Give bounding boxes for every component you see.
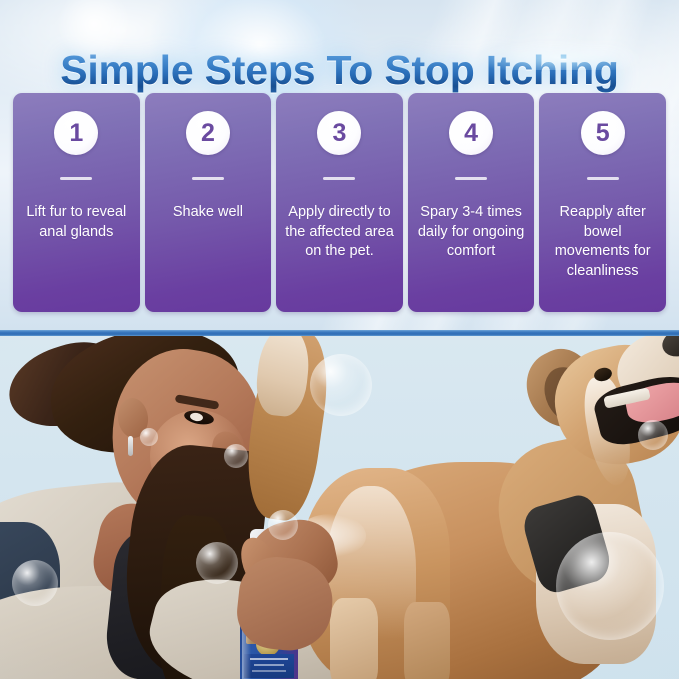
steps-card-row: 1 Lift fur to reveal anal glands 2 Shake… xyxy=(13,93,666,312)
step-divider-rule xyxy=(60,177,92,180)
bubble-icon xyxy=(556,532,664,640)
dog-hind-leg-right xyxy=(404,602,450,679)
bubble-icon xyxy=(12,560,58,606)
step-number-label: 3 xyxy=(333,121,347,146)
step-number-badge: 5 xyxy=(581,111,625,155)
bottle-label-line xyxy=(254,664,284,666)
bottle-label-line xyxy=(252,670,286,672)
step-divider-rule xyxy=(587,177,619,180)
step-number-badge: 4 xyxy=(449,111,493,155)
step-description: Lift fur to reveal anal glands xyxy=(13,203,140,242)
step-number-label: 2 xyxy=(201,121,215,146)
step-number-label: 4 xyxy=(464,121,478,146)
step-number-label: 1 xyxy=(69,121,83,146)
bubble-icon xyxy=(638,420,668,450)
step-divider-rule xyxy=(455,177,487,180)
bubble-icon xyxy=(140,428,158,446)
step-number-badge: 2 xyxy=(186,111,230,155)
page-title: Simple Steps To Stop Itching xyxy=(60,43,619,97)
dog-hind-leg-left xyxy=(330,598,378,679)
step-card-2[interactable]: 2 Shake well xyxy=(145,93,272,312)
bubble-icon xyxy=(310,354,372,416)
step-card-3[interactable]: 3 Apply directly to the affected area on… xyxy=(276,93,403,312)
bottle-label-line xyxy=(250,658,288,660)
step-description: Reapply after bowel movements for cleanl… xyxy=(539,203,666,281)
step-card-5[interactable]: 5 Reapply after bowel movements for clea… xyxy=(539,93,666,312)
product-use-photo xyxy=(0,336,679,679)
product-infographic: Simple Steps To Stop Itching 1 Lift fur … xyxy=(0,0,679,679)
step-card-4[interactable]: 4 Spary 3-4 times daily for ongoing comf… xyxy=(408,93,535,312)
step-number-badge: 3 xyxy=(317,111,361,155)
step-number-label: 5 xyxy=(596,121,610,146)
step-card-1[interactable]: 1 Lift fur to reveal anal glands xyxy=(13,93,140,312)
header-section: Simple Steps To Stop Itching 1 Lift fur … xyxy=(0,0,679,331)
bubble-icon xyxy=(224,444,248,468)
step-description: Shake well xyxy=(166,203,250,223)
step-number-badge: 1 xyxy=(54,111,98,155)
step-description: Spary 3-4 times daily for ongoing comfor… xyxy=(408,203,535,262)
woman-earring xyxy=(128,436,133,456)
step-description: Apply directly to the affected area on t… xyxy=(276,203,403,262)
bubble-icon xyxy=(196,542,238,584)
step-divider-rule xyxy=(192,177,224,180)
step-divider-rule xyxy=(323,177,355,180)
bubble-icon xyxy=(268,510,298,540)
